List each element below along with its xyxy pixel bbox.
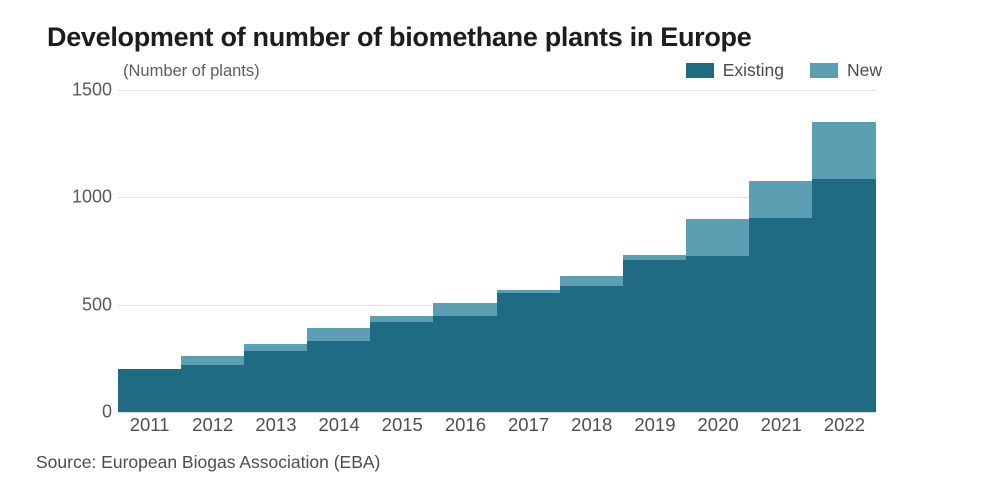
- x-axis: 2011201220132014201520162017201820192020…: [118, 414, 876, 444]
- bar-group-2015[interactable]: [370, 316, 434, 412]
- legend-swatch-existing-icon: [686, 63, 714, 78]
- bar-group-2014[interactable]: [307, 328, 371, 412]
- bar-segment-existing-2012[interactable]: [181, 365, 245, 412]
- bar-group-2012[interactable]: [181, 356, 245, 412]
- bar-segment-new-2012[interactable]: [181, 356, 245, 365]
- x-tick-label: 2018: [560, 414, 624, 436]
- source-note: Source: European Biogas Association (EBA…: [36, 452, 380, 473]
- bar-group-2017[interactable]: [497, 290, 561, 412]
- bar-group-2020[interactable]: [686, 219, 750, 412]
- bar-segment-existing-2016[interactable]: [433, 316, 497, 412]
- chart-container: Development of number of biomethane plan…: [0, 0, 982, 496]
- x-tick-label: 2020: [686, 414, 750, 436]
- y-tick-label: 1500: [72, 80, 112, 101]
- bar-group-2013[interactable]: [244, 344, 308, 412]
- y-tick-label: 1000: [72, 187, 112, 208]
- legend-item-existing[interactable]: Existing: [686, 60, 784, 81]
- x-tick-label: 2015: [370, 414, 434, 436]
- bar-segment-new-2016[interactable]: [433, 303, 497, 317]
- bar-segment-existing-2011[interactable]: [118, 369, 182, 412]
- bar-segment-existing-2019[interactable]: [623, 260, 687, 412]
- x-tick-label: 2011: [118, 414, 182, 436]
- y-tick-label: 500: [82, 294, 112, 315]
- x-tick-label: 2016: [433, 414, 497, 436]
- y-axis: 050010001500: [40, 90, 112, 412]
- bar-group-2016[interactable]: [433, 303, 497, 412]
- plot-area: [118, 90, 876, 412]
- bar-segment-existing-2018[interactable]: [560, 286, 624, 412]
- bar-group-2011[interactable]: [118, 369, 182, 412]
- chart-legend: ExistingNew: [686, 60, 882, 81]
- y-tick-label: 0: [102, 402, 112, 423]
- bar-segment-existing-2014[interactable]: [307, 341, 371, 412]
- bar-segment-existing-2022[interactable]: [812, 179, 876, 412]
- bar-group-2022[interactable]: [812, 122, 876, 412]
- legend-label: Existing: [723, 60, 784, 81]
- bar-segment-new-2022[interactable]: [812, 122, 876, 179]
- bar-segment-new-2021[interactable]: [749, 181, 813, 217]
- legend-label: New: [847, 60, 882, 81]
- legend-item-new[interactable]: New: [810, 60, 882, 81]
- chart-subtitle-axis-unit: (Number of plants): [123, 62, 260, 81]
- bar-group-2021[interactable]: [749, 181, 813, 412]
- bar-segment-existing-2021[interactable]: [749, 218, 813, 412]
- bar-segment-existing-2017[interactable]: [497, 293, 561, 412]
- bar-segment-existing-2015[interactable]: [370, 322, 434, 412]
- bars-layer: [118, 90, 876, 412]
- x-tick-label: 2019: [623, 414, 687, 436]
- x-tick-label: 2022: [812, 414, 876, 436]
- bar-segment-existing-2020[interactable]: [686, 256, 750, 412]
- legend-swatch-new-icon: [810, 63, 838, 78]
- x-tick-label: 2021: [749, 414, 813, 436]
- bar-group-2019[interactable]: [623, 255, 687, 412]
- x-tick-label: 2012: [181, 414, 245, 436]
- chart-title: Development of number of biomethane plan…: [47, 22, 751, 53]
- bar-segment-new-2018[interactable]: [560, 276, 624, 287]
- x-tick-label: 2013: [244, 414, 308, 436]
- bar-group-2018[interactable]: [560, 276, 624, 412]
- bar-segment-new-2020[interactable]: [686, 219, 750, 257]
- bar-segment-existing-2013[interactable]: [244, 351, 308, 412]
- x-tick-label: 2014: [307, 414, 371, 436]
- gridline-0: [118, 412, 876, 413]
- bar-segment-new-2014[interactable]: [307, 328, 371, 341]
- x-tick-label: 2017: [497, 414, 561, 436]
